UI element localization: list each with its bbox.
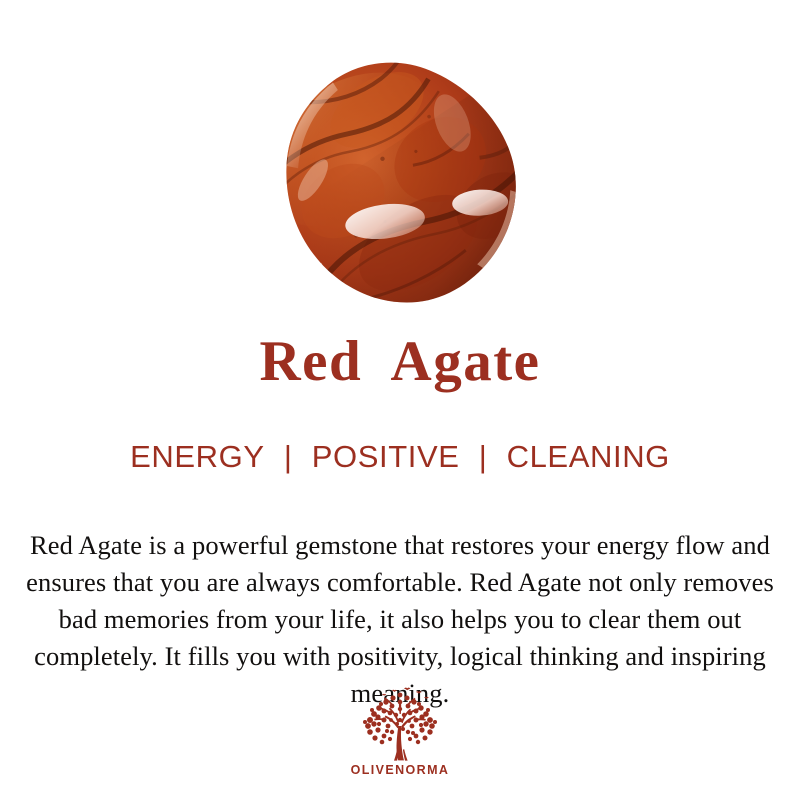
- tree-of-life-icon: [354, 686, 446, 762]
- brand-wordmark: OLIVENORMA: [315, 763, 485, 777]
- brand-logo: OLIVENORMA: [315, 686, 485, 777]
- keyword-list: ENERGY | POSITIVE | CLEANING: [0, 438, 800, 476]
- description-text: Red Agate is a powerful gemstone that re…: [18, 527, 782, 712]
- gemstone-info-card: Red Agate ENERGY | POSITIVE | CLEANING R…: [0, 0, 800, 800]
- keyword-cleaning: CLEANING: [507, 438, 670, 476]
- gemstone-photo-icon: [270, 57, 530, 307]
- keyword-positive: POSITIVE: [312, 438, 460, 476]
- gemstone-image: [270, 57, 530, 307]
- keyword-separator: |: [469, 438, 498, 476]
- keyword-energy: ENERGY: [130, 438, 265, 476]
- keyword-separator: |: [274, 438, 303, 476]
- page-title: Red Agate: [0, 330, 800, 394]
- product-image-area: [0, 0, 800, 320]
